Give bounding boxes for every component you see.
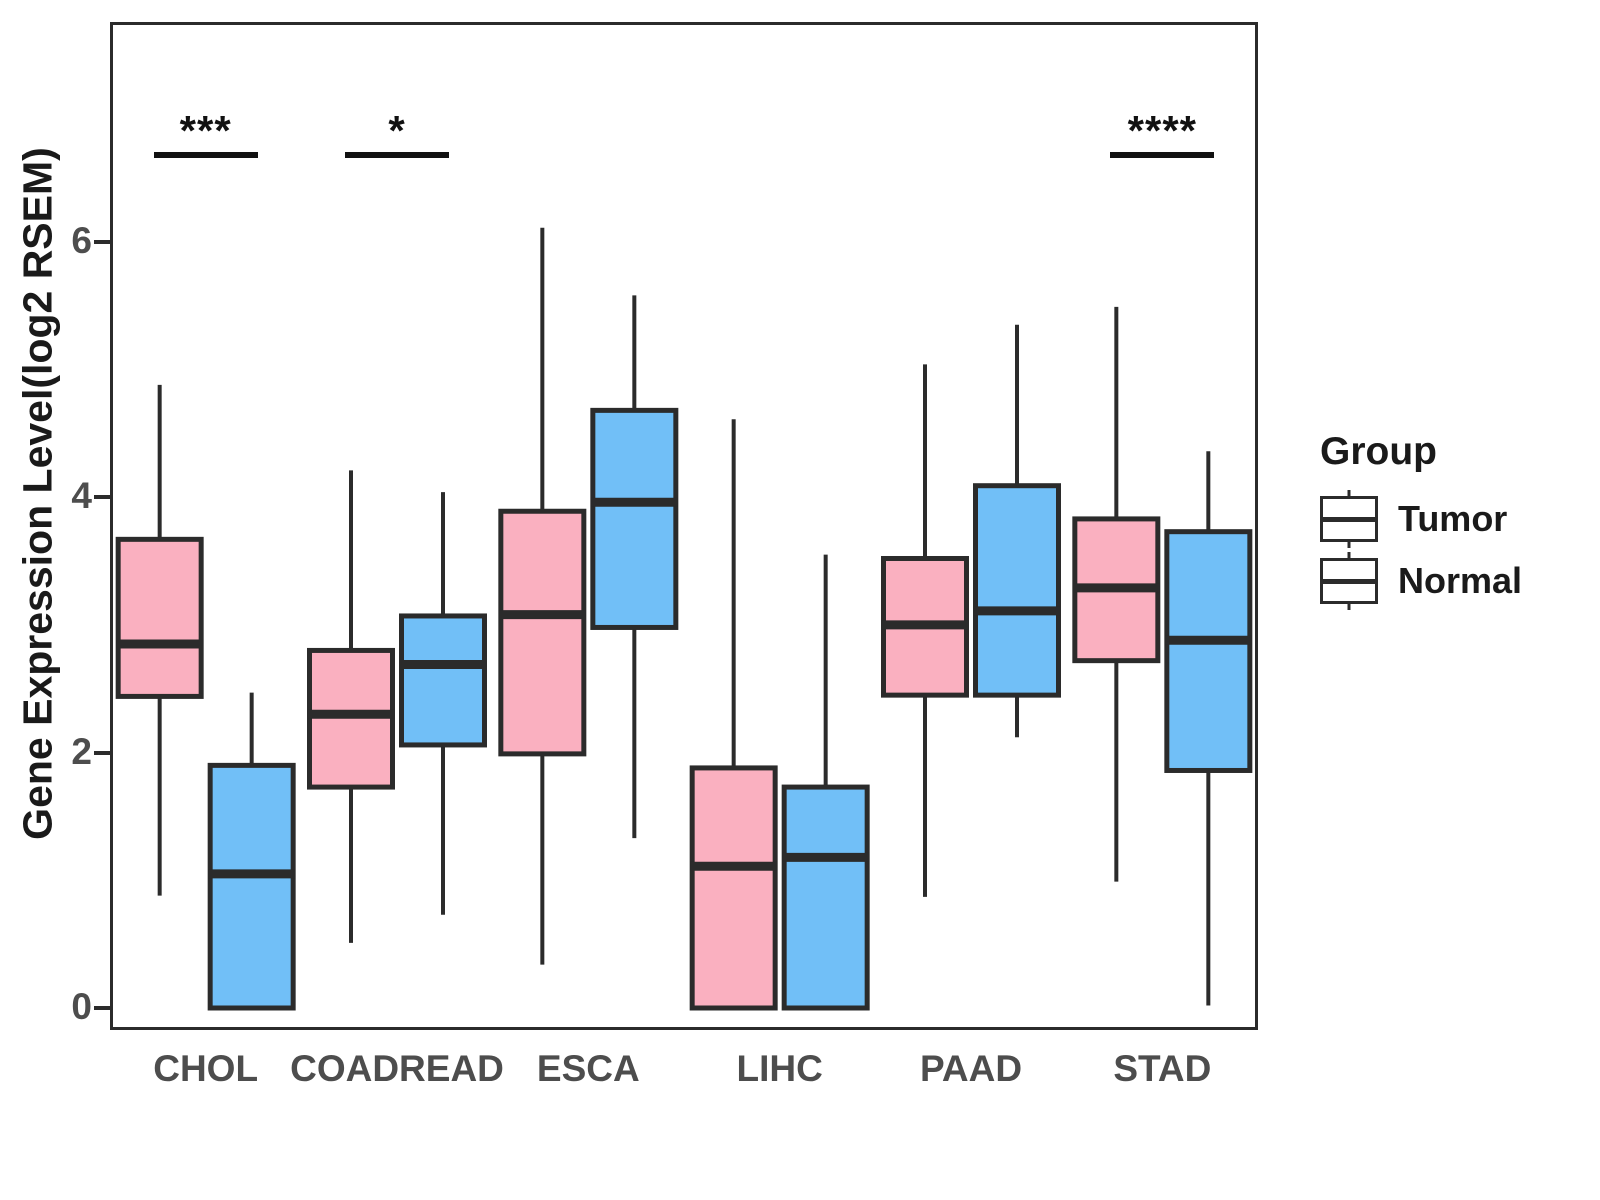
box — [118, 539, 201, 696]
legend: Group Tumor Normal — [1320, 430, 1580, 620]
legend-swatch-tumor — [1320, 496, 1378, 542]
legend-label-normal: Normal — [1398, 560, 1522, 602]
significance-stars: * — [277, 110, 517, 152]
boxplot-paad-normal — [974, 325, 1061, 737]
boxplot-chol-tumor — [116, 385, 203, 896]
boxplot-lihc-tumor — [690, 419, 777, 1008]
y-tick-label: 2 — [36, 733, 92, 770]
boxplot-coadread-normal — [400, 492, 487, 915]
plot-panel — [110, 22, 1258, 1030]
x-tick-label-lihc: LIHC — [736, 1048, 822, 1090]
boxplot-canvas — [113, 25, 1255, 1027]
legend-swatch-normal — [1320, 558, 1378, 604]
box — [501, 511, 584, 754]
box — [976, 486, 1059, 695]
y-tick-mark — [94, 240, 110, 244]
box — [210, 765, 293, 1008]
boxplot-stad-normal — [1165, 451, 1252, 1005]
y-tick-mark — [94, 1006, 110, 1010]
chart-root: Gene Expression Level(log2 RSEM) 6420 CH… — [0, 0, 1600, 1200]
legend-title: Group — [1320, 430, 1580, 474]
box — [402, 616, 485, 745]
legend-label-tumor: Tumor — [1398, 498, 1507, 540]
boxplot-coadread-tumor — [308, 470, 395, 942]
x-tick-label-chol: CHOL — [153, 1048, 258, 1090]
box — [1167, 532, 1250, 771]
x-tick-label-stad: STAD — [1113, 1048, 1211, 1090]
y-tick-label: 6 — [36, 222, 92, 259]
boxplot-lihc-normal — [782, 555, 869, 1008]
y-tick-label: 0 — [36, 988, 92, 1025]
y-tick-mark — [94, 495, 110, 499]
x-tick-label-paad: PAAD — [920, 1048, 1022, 1090]
boxplot-paad-tumor — [882, 364, 969, 897]
boxplot-stad-tumor — [1073, 307, 1160, 882]
x-tick-label-coadread: COADREAD — [290, 1048, 504, 1090]
y-tick-label: 4 — [36, 477, 92, 514]
legend-swatch-median-line — [1320, 517, 1378, 522]
box — [593, 410, 676, 627]
boxplot-esca-normal — [591, 295, 678, 838]
box — [692, 768, 775, 1008]
legend-item-normal[interactable]: Normal — [1320, 558, 1580, 604]
legend-item-tumor[interactable]: Tumor — [1320, 496, 1580, 542]
box — [784, 787, 867, 1008]
y-axis-ticks: 6420 — [0, 0, 92, 1200]
legend-swatch-median-line — [1320, 579, 1378, 584]
x-tick-label-esca: ESCA — [537, 1048, 640, 1090]
significance-stars: **** — [1042, 110, 1282, 152]
boxplot-chol-normal — [208, 693, 295, 1008]
y-tick-mark — [94, 751, 110, 755]
boxplot-esca-tumor — [499, 228, 586, 965]
